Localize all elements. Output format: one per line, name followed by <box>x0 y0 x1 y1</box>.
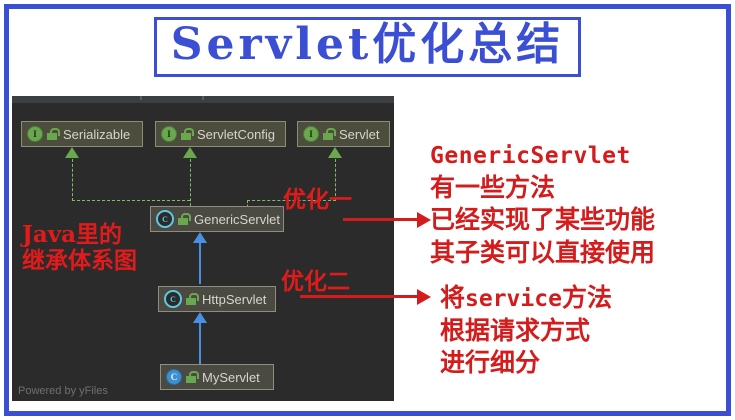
implements-edge-serializable-h <box>72 200 190 201</box>
pointer-line-1 <box>343 218 427 221</box>
lock-icon <box>323 128 334 140</box>
annotation-optimization-1: 优化一 <box>283 180 352 214</box>
uml-node-label: GenericServlet <box>194 212 280 227</box>
uml-node-serializable[interactable]: I Serializable <box>21 121 143 147</box>
implements-edge-serializable-v <box>72 159 73 201</box>
uml-node-label: HttpServlet <box>202 292 266 307</box>
uml-node-servlet[interactable]: I Servlet <box>297 121 390 147</box>
annotation-r2-line1-post: 方法 <box>562 283 612 312</box>
annotation-r2-line1-pre: 将 <box>440 283 465 312</box>
implements-arrowhead-servlet <box>328 147 342 158</box>
lock-icon <box>186 293 197 305</box>
lock-icon <box>186 371 197 383</box>
uml-node-myservlet[interactable]: C MyServlet <box>160 364 274 390</box>
frame-border-right <box>726 4 731 416</box>
annotation-right-block-2: 将service方法 根据请求方式 进行细分 <box>440 282 612 380</box>
annotation-r1-line4: 其子类可以直接使用 <box>430 237 655 270</box>
annotation-left: Java里的 继承体系图 <box>22 222 137 275</box>
lock-icon <box>181 128 192 140</box>
uml-node-httpservlet[interactable]: C HttpServlet <box>158 286 276 312</box>
lock-icon <box>178 213 189 225</box>
annotation-right-block-1: GenericServlet 有一些方法 已经实现了某些功能 其子类可以直接使用 <box>430 142 655 269</box>
annotation-r2-line1-en: service <box>465 286 562 312</box>
implements-arrowhead-serializable <box>65 147 79 158</box>
abstract-class-icon: C <box>164 290 182 308</box>
annotation-r1-line2: 有一些方法 <box>430 172 655 205</box>
extends-arrowhead-httpservlet <box>193 232 207 243</box>
yfiles-watermark: Powered by yFiles <box>18 385 108 397</box>
implements-edge-servletconfig-v <box>190 159 191 211</box>
page-title: Servlet优化总结 <box>171 22 565 68</box>
annotation-r2-line1: 将service方法 <box>440 282 612 315</box>
uml-node-genericservlet[interactable]: C GenericServlet <box>150 206 284 232</box>
interface-icon: I <box>27 126 43 142</box>
uml-node-label: ServletConfig <box>197 127 275 142</box>
slide-root: Servlet优化总结 I Serializable I <box>0 0 735 420</box>
annotation-left-line2: 继承体系图 <box>22 248 137 274</box>
annotation-r2-line3: 进行细分 <box>440 347 612 380</box>
frame-border-bottom <box>4 411 731 416</box>
uml-node-servletconfig[interactable]: I ServletConfig <box>155 121 286 147</box>
toolbar-tick <box>202 96 204 100</box>
extends-arrowhead-myservlet <box>193 312 207 323</box>
pointer-arrowhead-1 <box>417 212 431 228</box>
lock-icon <box>47 128 58 140</box>
title-band: Servlet优化总结 <box>9 9 726 85</box>
extends-edge-httpservlet <box>199 242 201 284</box>
uml-node-label: Serializable <box>63 127 130 142</box>
extends-edge-myservlet <box>199 322 201 364</box>
implements-arrowhead-servletconfig <box>183 147 197 158</box>
annotation-left-line1: Java里的 <box>22 222 137 248</box>
uml-node-label: MyServlet <box>202 370 260 385</box>
uml-node-label: Servlet <box>339 127 379 142</box>
title-box: Servlet优化总结 <box>154 17 582 77</box>
pointer-line-2 <box>300 295 427 298</box>
class-icon: C <box>166 369 182 385</box>
abstract-class-icon: C <box>156 210 174 228</box>
interface-icon: I <box>303 126 319 142</box>
toolbar-tick <box>140 96 142 100</box>
diagram-toolbar <box>12 96 394 103</box>
annotation-optimization-2: 优化二 <box>281 262 350 296</box>
interface-icon: I <box>161 126 177 142</box>
annotation-r1-line1: GenericServlet <box>430 142 655 172</box>
annotation-r1-line3: 已经实现了某些功能 <box>430 204 655 237</box>
annotation-r2-line2: 根据请求方式 <box>440 315 612 348</box>
pointer-arrowhead-2 <box>417 289 431 305</box>
